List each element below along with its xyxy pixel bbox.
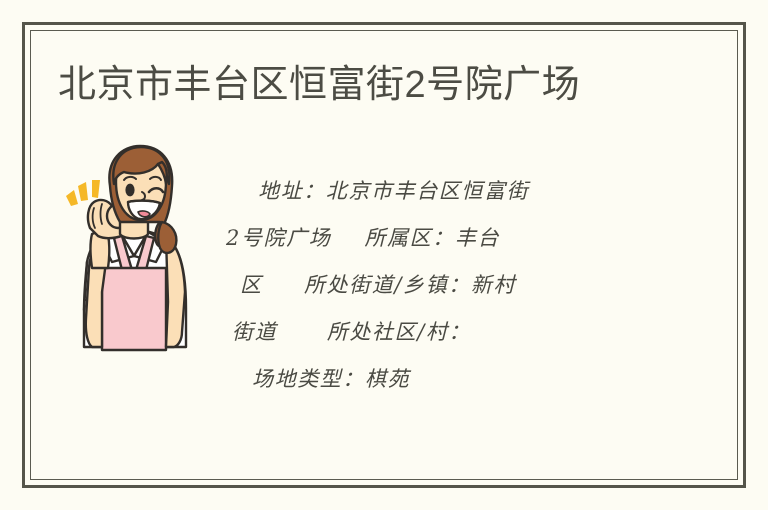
- page-title: 北京市丰台区恒富街2号院广场: [58, 60, 580, 110]
- detail-line-address: 地址：北京市丰台区恒富街: [222, 168, 632, 215]
- detail-line-venue-type: 场地类型：棋苑: [222, 356, 632, 403]
- detail-line-district-cont-street: 区 所处街道/乡镇：新村: [222, 262, 632, 309]
- cartoon-woman-ok-gesture-illustration: [62, 142, 207, 354]
- detail-line-street-cont-community: 街道 所处社区/村：: [222, 309, 632, 356]
- venue-details-block: 地址：北京市丰台区恒富街 2号院广场 所属区：丰台 区 所处街道/乡镇：新村 街…: [222, 168, 632, 403]
- venue-info-card: 北京市丰台区恒富街2号院广场: [0, 0, 768, 510]
- detail-line-address-cont-district: 2号院广场 所属区：丰台: [222, 215, 632, 262]
